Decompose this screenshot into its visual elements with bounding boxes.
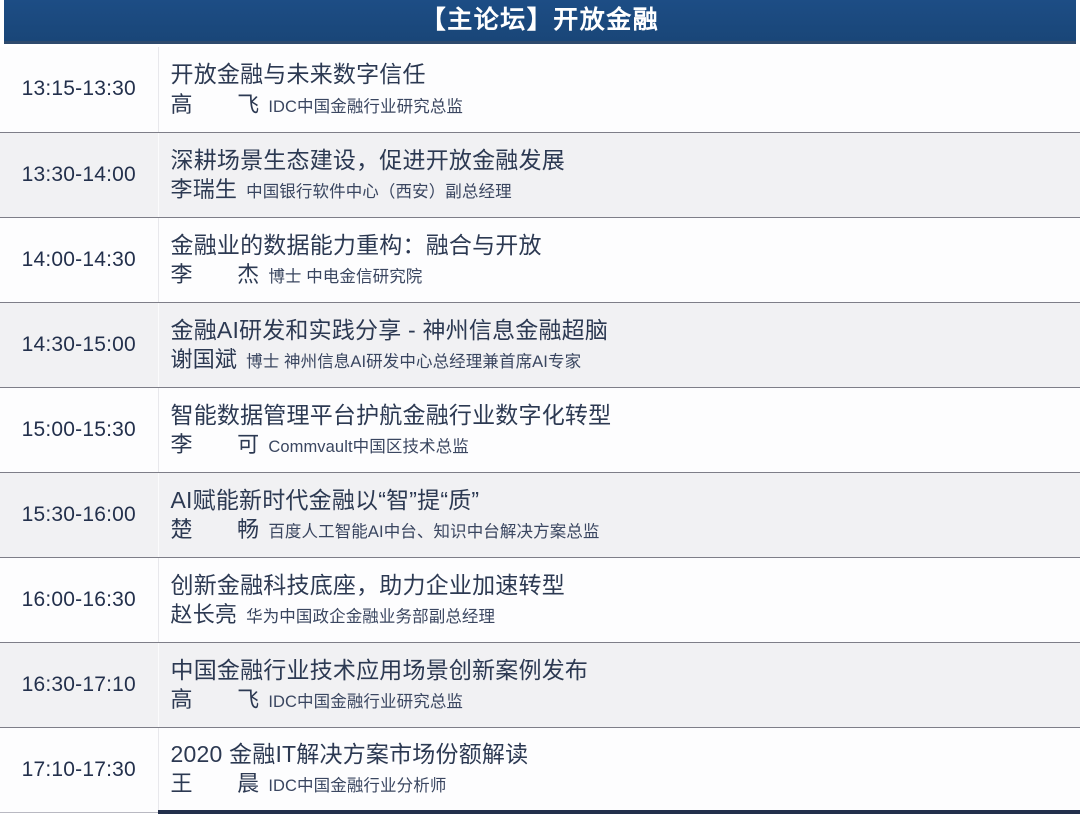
speaker-name: 赵长亮 xyxy=(171,601,238,629)
session-cell: 开放金融与未来数字信任高 飞IDC中国金融行业研究总监 xyxy=(158,47,1080,132)
session-speaker-line: 李 可Commvault中国区技术总监 xyxy=(171,431,1071,459)
agenda-row[interactable]: 16:00-16:30创新金融科技底座，助力企业加速转型赵长亮华为中国政企金融业… xyxy=(0,557,1080,642)
session-title: 金融业的数据能力重构：融合与开放 xyxy=(171,231,1071,260)
speaker-affiliation: Commvault中国区技术总监 xyxy=(268,437,469,458)
session-title: 深耕场景生态建设，促进开放金融发展 xyxy=(171,146,1071,175)
speaker-affiliation: 博士 神州信息AI研发中心总经理兼首席AI专家 xyxy=(246,352,581,373)
session-time: 15:30-16:00 xyxy=(0,472,158,557)
session-speaker-line: 楚 畅百度人工智能AI中台、知识中台解决方案总监 xyxy=(171,516,1071,544)
session-time: 14:30-15:00 xyxy=(0,302,158,387)
session-cell: 创新金融科技底座，助力企业加速转型赵长亮华为中国政企金融业务部副总经理 xyxy=(158,557,1080,642)
speaker-affiliation: 中国银行软件中心（西安）副总经理 xyxy=(246,182,512,203)
speaker-name: 李 杰 xyxy=(171,261,260,289)
agenda-row[interactable]: 15:00-15:30智能数据管理平台护航金融行业数字化转型李 可Commvau… xyxy=(0,387,1080,472)
agenda-table: 13:15-13:30开放金融与未来数字信任高 飞IDC中国金融行业研究总监13… xyxy=(0,47,1080,814)
session-speaker-line: 高 飞IDC中国金融行业研究总监 xyxy=(171,686,1071,714)
speaker-name: 楚 畅 xyxy=(171,516,260,544)
session-cell: 金融AI研发和实践分享 - 神州信息金融超脑谢国斌博士 神州信息AI研发中心总经… xyxy=(158,302,1080,387)
session-time: 14:00-14:30 xyxy=(0,217,158,302)
speaker-affiliation: 博士 中电金信研究院 xyxy=(268,267,422,288)
session-title: AI赋能新时代金融以“智”提“质” xyxy=(171,486,1071,515)
agenda-row[interactable]: 16:30-17:10中国金融行业技术应用场景创新案例发布高 飞IDC中国金融行… xyxy=(0,642,1080,727)
session-speaker-line: 赵长亮华为中国政企金融业务部副总经理 xyxy=(171,601,1071,629)
agenda-row[interactable]: 13:30-14:00深耕场景生态建设，促进开放金融发展李瑞生中国银行软件中心（… xyxy=(0,132,1080,217)
session-title: 智能数据管理平台护航金融行业数字化转型 xyxy=(171,401,1071,430)
speaker-affiliation: 百度人工智能AI中台、知识中台解决方案总监 xyxy=(268,522,599,543)
speaker-affiliation: IDC中国金融行业研究总监 xyxy=(268,692,463,713)
session-time: 16:30-17:10 xyxy=(0,642,158,727)
speaker-name: 高 飞 xyxy=(171,91,260,119)
session-cell: AI赋能新时代金融以“智”提“质”楚 畅百度人工智能AI中台、知识中台解决方案总… xyxy=(158,472,1080,557)
session-cell: 深耕场景生态建设，促进开放金融发展李瑞生中国银行软件中心（西安）副总经理 xyxy=(158,132,1080,217)
speaker-affiliation: IDC中国金融行业研究总监 xyxy=(268,97,463,118)
speaker-name: 李瑞生 xyxy=(171,176,238,204)
session-speaker-line: 高 飞IDC中国金融行业研究总监 xyxy=(171,91,1071,119)
session-title: 2020 金融IT解决方案市场份额解读 xyxy=(171,740,1071,769)
session-title: 开放金融与未来数字信任 xyxy=(171,60,1071,89)
agenda-row[interactable]: 15:30-16:00AI赋能新时代金融以“智”提“质”楚 畅百度人工智能AI中… xyxy=(0,472,1080,557)
session-cell: 金融业的数据能力重构：融合与开放李 杰博士 中电金信研究院 xyxy=(158,217,1080,302)
agenda-row[interactable]: 13:15-13:30开放金融与未来数字信任高 飞IDC中国金融行业研究总监 xyxy=(0,47,1080,132)
page-title: 【主论坛】开放金融 xyxy=(421,8,660,33)
speaker-affiliation: IDC中国金融行业分析师 xyxy=(268,776,446,797)
forum-title-banner: 【主论坛】开放金融 xyxy=(4,0,1076,44)
session-speaker-line: 王 晨IDC中国金融行业分析师 xyxy=(171,770,1071,798)
speaker-name: 李 可 xyxy=(171,431,260,459)
agenda-row[interactable]: 14:00-14:30金融业的数据能力重构：融合与开放李 杰博士 中电金信研究院 xyxy=(0,217,1080,302)
session-speaker-line: 李 杰博士 中电金信研究院 xyxy=(171,261,1071,289)
agenda-row[interactable]: 14:30-15:00金融AI研发和实践分享 - 神州信息金融超脑谢国斌博士 神… xyxy=(0,302,1080,387)
session-title: 创新金融科技底座，助力企业加速转型 xyxy=(171,571,1071,600)
agenda-row[interactable]: 17:10-17:302020 金融IT解决方案市场份额解读王 晨IDC中国金融… xyxy=(0,727,1080,812)
session-time: 13:30-14:00 xyxy=(0,132,158,217)
session-cell: 2020 金融IT解决方案市场份额解读王 晨IDC中国金融行业分析师 xyxy=(158,727,1080,812)
session-cell: 中国金融行业技术应用场景创新案例发布高 飞IDC中国金融行业研究总监 xyxy=(158,642,1080,727)
speaker-name: 王 晨 xyxy=(171,770,260,798)
session-title: 金融AI研发和实践分享 - 神州信息金融超脑 xyxy=(171,316,1071,345)
speaker-affiliation: 华为中国政企金融业务部副总经理 xyxy=(246,607,495,628)
session-time: 15:00-15:30 xyxy=(0,387,158,472)
session-time: 13:15-13:30 xyxy=(0,47,158,132)
session-speaker-line: 谢国斌博士 神州信息AI研发中心总经理兼首席AI专家 xyxy=(171,346,1071,374)
agenda-page: 【主论坛】开放金融 13:15-13:30开放金融与未来数字信任高 飞IDC中国… xyxy=(0,0,1080,811)
session-cell: 智能数据管理平台护航金融行业数字化转型李 可Commvault中国区技术总监 xyxy=(158,387,1080,472)
session-time: 16:00-16:30 xyxy=(0,557,158,642)
session-title: 中国金融行业技术应用场景创新案例发布 xyxy=(171,656,1071,685)
speaker-name: 谢国斌 xyxy=(171,346,238,374)
agenda-table-body: 13:15-13:30开放金融与未来数字信任高 飞IDC中国金融行业研究总监13… xyxy=(0,47,1080,812)
session-time: 17:10-17:30 xyxy=(0,727,158,812)
speaker-name: 高 飞 xyxy=(171,686,260,714)
session-speaker-line: 李瑞生中国银行软件中心（西安）副总经理 xyxy=(171,176,1071,204)
